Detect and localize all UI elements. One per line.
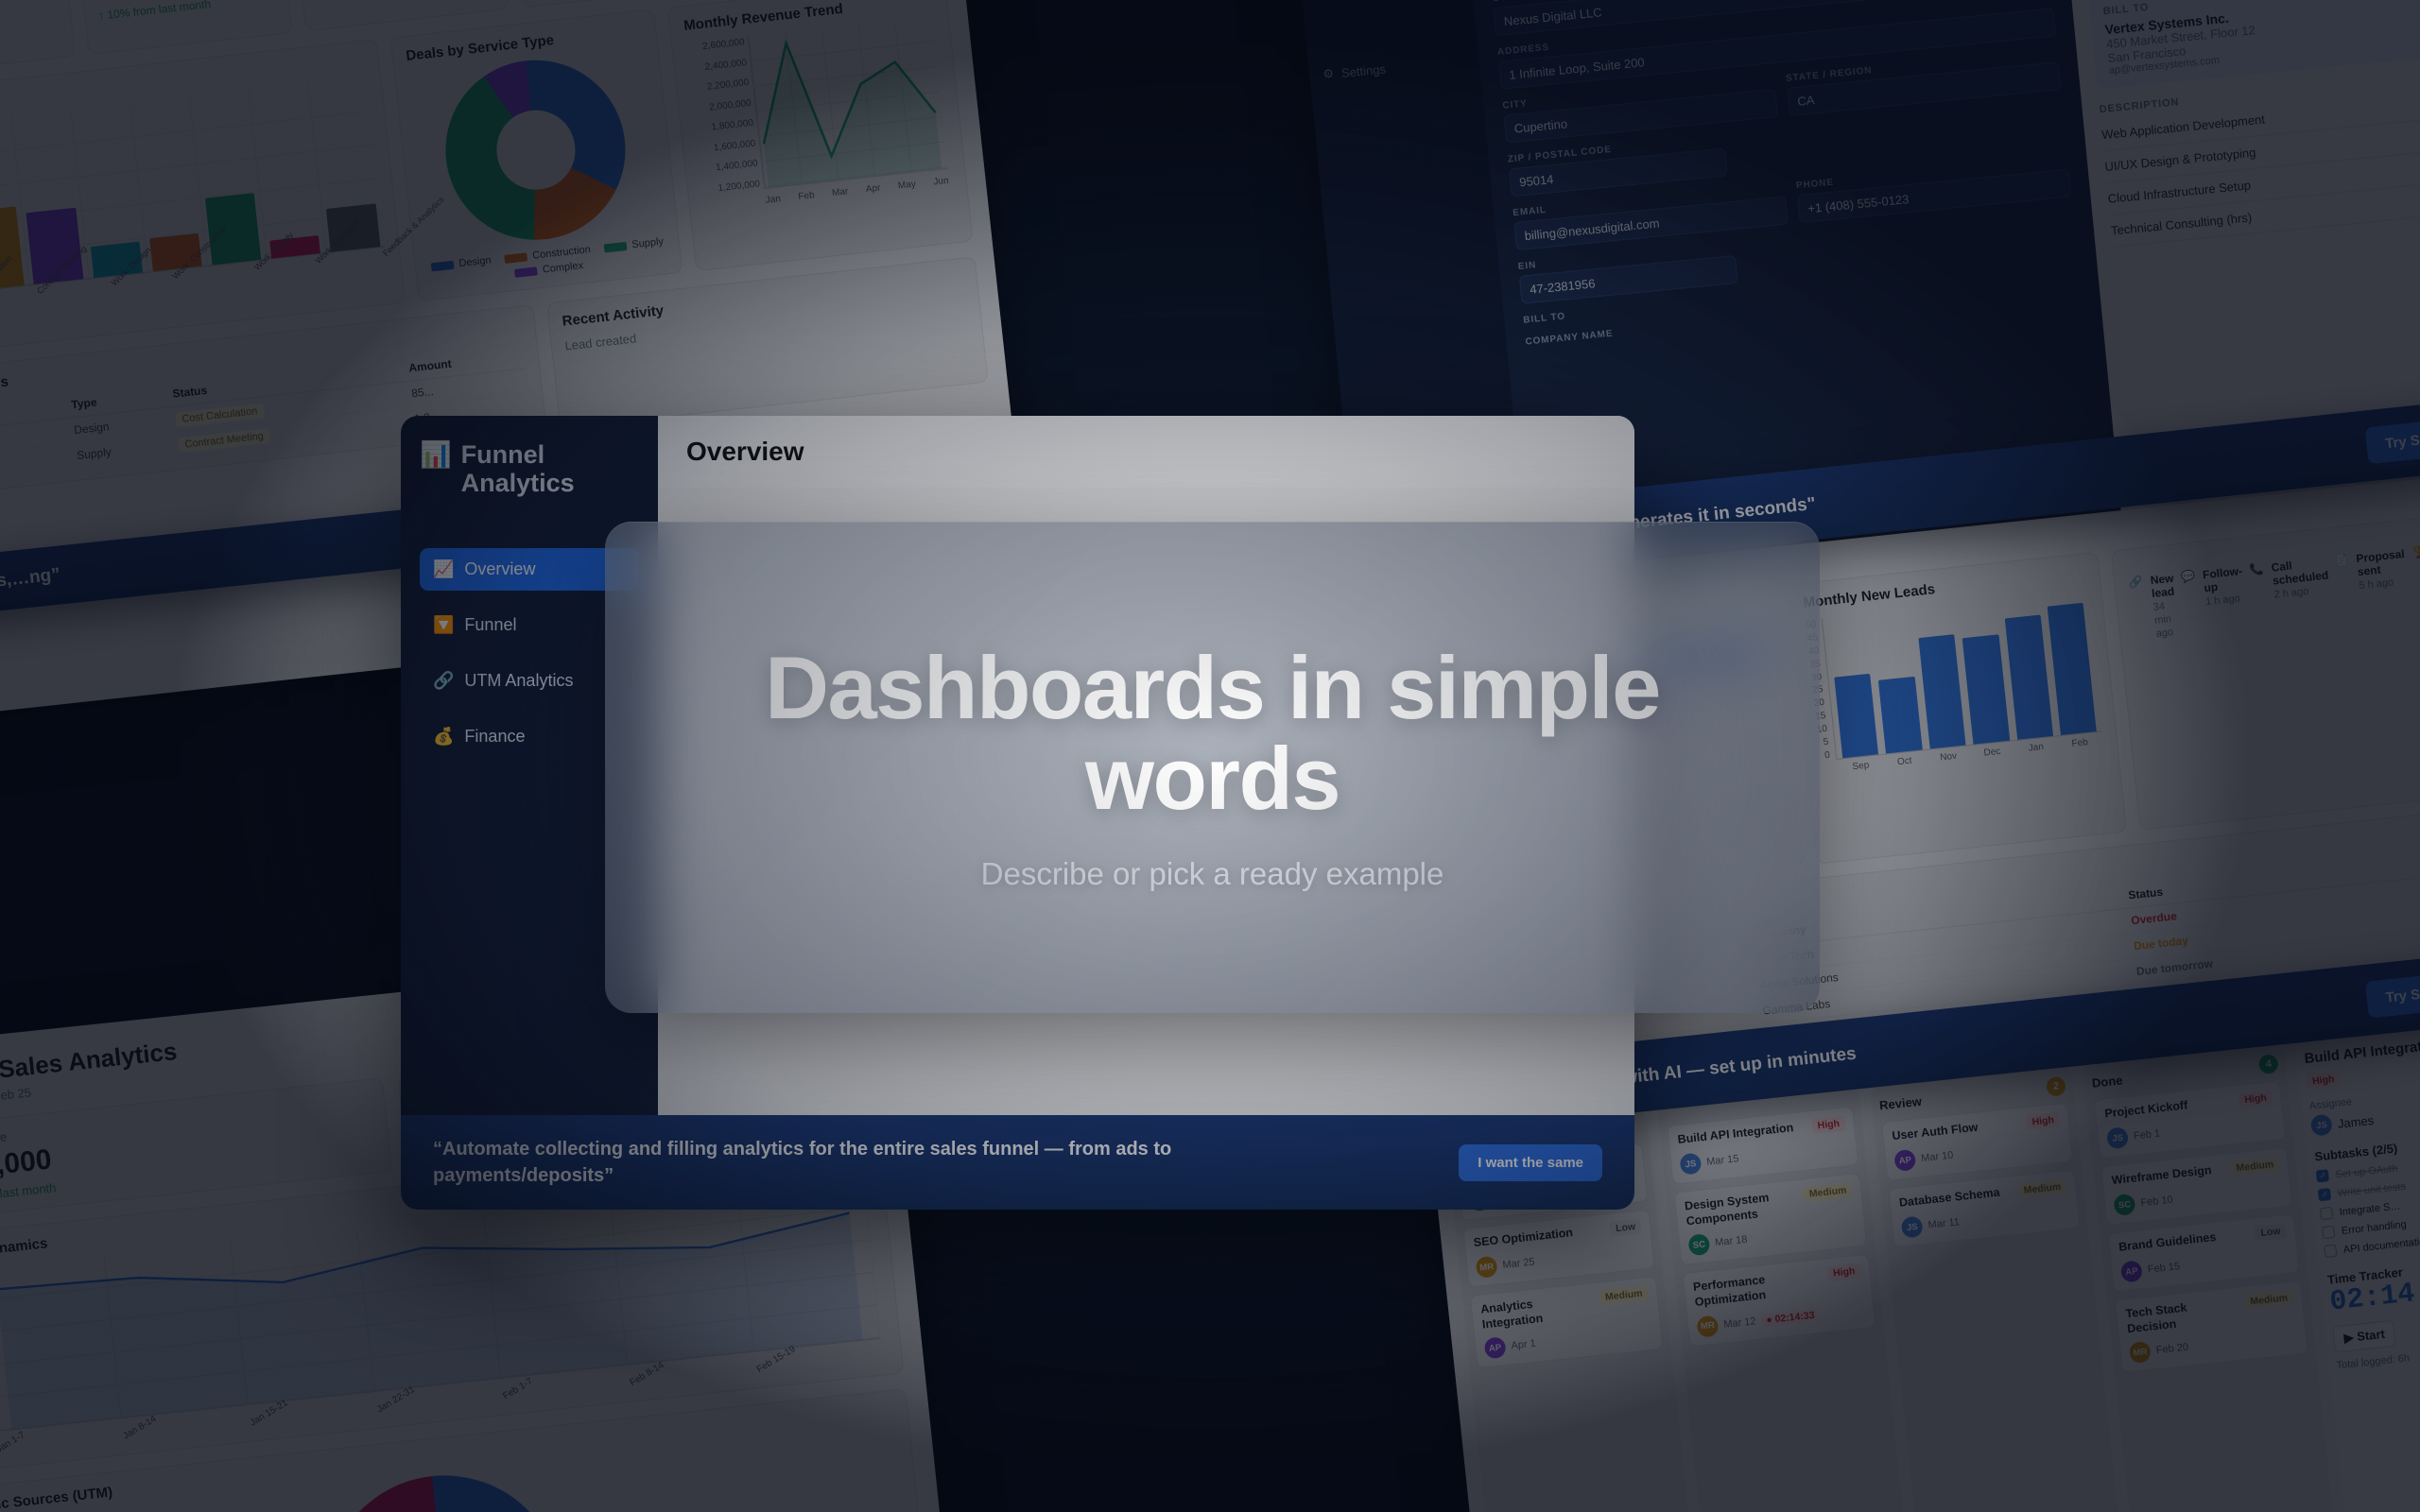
legend-item: Complex xyxy=(513,260,583,279)
bar xyxy=(1834,674,1878,759)
subtask-text: Integrate S… xyxy=(2339,1200,2401,1218)
ein-value: 47-2381956 xyxy=(1529,276,1596,297)
checkbox-icon[interactable] xyxy=(2320,1207,2333,1220)
table-cell: Ivanov M. xyxy=(0,443,75,484)
avatar: JS xyxy=(2106,1126,2129,1149)
link-icon: 🔗 xyxy=(433,671,454,691)
page-title: Overview xyxy=(658,416,1634,488)
sidebar-item-label: Finance xyxy=(464,727,525,747)
x-tick: Feb xyxy=(2061,736,2099,750)
zip-value: 95014 xyxy=(1519,172,1554,189)
card-title: Design System Components xyxy=(1684,1188,1800,1229)
card-title: Analytics Integration xyxy=(1480,1291,1597,1332)
trophy-icon: 🏆 xyxy=(2411,545,2420,559)
activity-item: 📞 Call scheduled 2 h ago xyxy=(2248,548,2331,611)
x-tick: Sep xyxy=(1842,759,1880,773)
activity-time: 5 h ago xyxy=(2359,576,2394,592)
status-badge: Overdue xyxy=(2131,909,2178,927)
chart-title: Deals by Service Type xyxy=(406,23,644,64)
card-date: Mar 25 xyxy=(1502,1256,1535,1271)
recent-activity-card: Recent Activity Lead created xyxy=(546,256,989,429)
deals-by-status-chart: Deals by Status New LeadCost Calculation… xyxy=(0,39,406,357)
card-title: Database Schema xyxy=(1898,1186,2000,1211)
kpi-card: Total Revenue 25,494,000 $ ↑ 10% from la… xyxy=(77,0,292,55)
column-count-badge: 4 xyxy=(2258,1054,2279,1074)
card-title: SEO Optimization xyxy=(1473,1226,1574,1251)
x-tick: Oct xyxy=(1886,754,1924,768)
card-title: Wireframe Design xyxy=(2111,1163,2212,1189)
sidebar-item-label: Funnel xyxy=(464,615,516,635)
avatar: MR xyxy=(1696,1314,1719,1337)
avatar: MR xyxy=(2129,1341,2152,1364)
card-date: Mar 11 xyxy=(1927,1216,1960,1230)
app-brand-label: Funnel Analytics xyxy=(461,440,639,497)
card-date: Feb 1 xyxy=(2133,1128,2160,1143)
x-tick: Jan xyxy=(2017,741,2055,755)
sidebar-item-label: Overview xyxy=(464,559,535,579)
kanban-card[interactable]: Wireframe Design Medium SC Feb 10 xyxy=(2100,1147,2293,1226)
column-count-badge: 2 xyxy=(2046,1076,2066,1097)
activity-feed: 🔗 New lead 34 min ago💬 Follow-up 1 h ago… xyxy=(2111,513,2420,831)
priority-badge: Medium xyxy=(2230,1157,2280,1177)
avatar: JS xyxy=(1901,1215,1924,1238)
start-timer-button[interactable]: ▶ Start xyxy=(2332,1320,2396,1353)
bar xyxy=(2048,603,2098,735)
kanban-card[interactable]: Performance Optimization High MR Mar 12 … xyxy=(1683,1254,1876,1348)
money-bag-icon: 💰 xyxy=(433,727,454,747)
card-date: Mar 10 xyxy=(1921,1150,1954,1165)
try-simpledashboard-button[interactable]: Try SimpleDashboard xyxy=(2365,963,2420,1019)
area-plot-area xyxy=(0,1176,880,1433)
monthly-new-leads-card: Monthly New Leads 50454035302520151050 S… xyxy=(1788,552,2128,865)
bar xyxy=(2004,615,2053,740)
line-y-labels: 2,600,0002,400,0002,200,0002,000,0001,80… xyxy=(685,37,760,196)
avatar: JS xyxy=(2310,1114,2333,1137)
activity-item: 📄 Proposal sent 5 h ago xyxy=(2333,540,2409,602)
gear-icon: ⚙ xyxy=(1322,66,1335,82)
doc-icon: 📄 xyxy=(2334,553,2349,567)
activity-text: Follow-up xyxy=(2202,564,2242,594)
y-tick: 1,600,000 xyxy=(697,138,756,155)
y-tick: 2,200,000 xyxy=(690,77,750,94)
kpi-delta: ↑ 10% from last month xyxy=(97,0,274,23)
revenue-line-svg xyxy=(749,17,947,188)
activity-item: 🔗 New lead 34 min ago xyxy=(2127,564,2180,651)
card-title: User Auth Flow xyxy=(1892,1121,1979,1144)
banner-quote: “Automate collecting and filling analyti… xyxy=(433,1136,1189,1189)
priority-badge: High xyxy=(1811,1115,1846,1134)
avatar: SC xyxy=(1687,1233,1710,1256)
x-tick: Feb xyxy=(798,190,815,202)
kanban-card[interactable]: Brand Guidelines Low AP Feb 15 xyxy=(2108,1213,2301,1292)
avatar: JS xyxy=(1679,1153,1702,1176)
activity-time: 2 h ago xyxy=(2273,586,2309,601)
priority-badge: Low xyxy=(2255,1223,2287,1241)
priority-badge: High xyxy=(2026,1112,2061,1131)
bar-chart-icon: 📊 xyxy=(420,440,452,469)
chart-legend: DesignConstructionSupplyComplex xyxy=(428,235,667,287)
assignee-name: James xyxy=(2337,1112,2375,1130)
x-tick: Dec xyxy=(1974,746,2012,760)
bar xyxy=(1918,634,1966,749)
y-tick: 2,000,000 xyxy=(692,98,752,115)
hero-overlay: Dashboards in simple words Describe or p… xyxy=(605,522,1820,1013)
card-date: Mar 12 xyxy=(1723,1315,1756,1331)
avatar: AP xyxy=(2120,1260,2143,1282)
phone-icon: 📞 xyxy=(2249,562,2264,576)
status-badge: Contract Meeting xyxy=(178,428,271,453)
x-tick: Apr xyxy=(865,183,881,196)
line-chart-plot: 2,600,0002,400,0002,200,0002,000,0001,80… xyxy=(685,16,953,213)
legend-item: Supply xyxy=(603,236,665,254)
monthly-revenue-chart: Monthly Revenue Trend 2,600,0002,400,000… xyxy=(667,0,973,271)
x-tick: May xyxy=(897,180,916,192)
priority-badge: Low xyxy=(1609,1218,1641,1236)
column-title: Done xyxy=(2091,1073,2123,1090)
priority-badge: High xyxy=(2238,1090,2273,1108)
status-badge: Due tomorrow xyxy=(2135,957,2213,978)
checkbox-icon[interactable] xyxy=(2322,1226,2335,1239)
screenshot-stage: Total Deals 312 ↑ 9% from last month Tot… xyxy=(0,0,2420,1512)
priority-badge: Medium xyxy=(1599,1285,1649,1305)
y-tick: 1,400,000 xyxy=(699,159,758,176)
activity-text: Proposal sent xyxy=(2356,547,2406,578)
legend-item: Design xyxy=(430,255,492,273)
kanban-card[interactable]: Database Schema Medium JS Mar 11 xyxy=(1888,1169,2081,1247)
card-date: Mar 15 xyxy=(1706,1153,1739,1168)
priority-badge: Medium xyxy=(1803,1182,1853,1202)
card-title: Brand Guidelines xyxy=(2118,1230,2218,1255)
card-date: Apr 1 xyxy=(1511,1338,1536,1352)
bar xyxy=(0,206,24,290)
activity-time: 34 min ago xyxy=(2152,601,2173,640)
activity-list: 🔗 New lead 34 min ago💬 Follow-up 1 h ago… xyxy=(2127,526,2420,659)
avatar: AP xyxy=(1484,1336,1507,1359)
card-title: Tech Stack Decision xyxy=(2125,1296,2241,1337)
hero-subtitle: Describe or pick a ready example xyxy=(981,856,1444,892)
card-date: Feb 15 xyxy=(2147,1261,2180,1276)
donut-chart xyxy=(437,51,634,249)
activity-text: New lead xyxy=(2150,572,2175,600)
priority-badge: Medium xyxy=(2017,1178,2067,1198)
app-brand: 📊 Funnel Analytics xyxy=(420,440,639,497)
kanban-card[interactable]: Tech Stack Decision Medium MR Feb 20 xyxy=(2115,1280,2308,1374)
email-value: billing@nexusdigital.com xyxy=(1524,215,1660,243)
chat-icon: 💬 xyxy=(2181,569,2196,583)
line-plot-area xyxy=(748,17,947,189)
checkbox-checked-icon[interactable]: ✓ xyxy=(2316,1169,2329,1182)
kanban-card[interactable]: SEO Optimization Low MR Mar 25 xyxy=(1462,1210,1655,1288)
avatar: MR xyxy=(1476,1256,1498,1279)
subtask-text: Error handling xyxy=(2341,1218,2407,1236)
activity-item: 🏆 Deal won 5 h ago xyxy=(2411,534,2420,608)
kanban-card[interactable]: User Auth Flow High AP Mar 10 xyxy=(1881,1103,2074,1181)
kpi-card: Average Check 188,844 $ xyxy=(293,0,509,31)
card-date: Feb 20 xyxy=(2155,1342,2188,1357)
sidebar-item-label: UTM Analytics xyxy=(464,671,573,691)
subtask-text: API documentation xyxy=(2342,1235,2420,1256)
card-title: Project Kickoff xyxy=(2104,1098,2188,1122)
x-tick: Jan xyxy=(765,194,781,206)
city-value: Cupertino xyxy=(1513,116,1568,135)
preview-bill-to: BILL TO Vertex Systems Inc. 450 Market S… xyxy=(2088,0,2420,89)
avatar: AP xyxy=(1893,1149,1916,1172)
window-banner: “Automate collecting and filling analyti… xyxy=(401,1115,1634,1210)
bar xyxy=(205,194,262,266)
card-date: Mar 18 xyxy=(1715,1234,1748,1249)
company-name-value: Nexus Digital LLC xyxy=(1503,5,1602,28)
state-value: CA xyxy=(1797,93,1815,109)
x-tick: Nov xyxy=(1929,750,1967,765)
bar-series xyxy=(1822,591,2103,760)
kanban-card[interactable]: Project Kickoff High JS Feb 1 xyxy=(2094,1080,2287,1159)
bar xyxy=(1962,634,2010,744)
priority-badge: Medium xyxy=(2244,1290,2294,1310)
sidebar-item-label: Settings xyxy=(1340,61,1386,79)
card-date: Feb 10 xyxy=(2140,1194,2173,1210)
column-title: Review xyxy=(1878,1093,1922,1112)
subtask-text: Write unit tests xyxy=(2337,1180,2406,1199)
sales-area-svg xyxy=(0,1176,880,1432)
funnel-icon: 🔽 xyxy=(433,615,454,635)
hero-title: Dashboards in simple words xyxy=(712,643,1714,824)
activity-item: 💬 Follow-up 1 h ago xyxy=(2180,557,2247,618)
y-tick: 1,200,000 xyxy=(701,179,761,196)
priority-badge: High xyxy=(1826,1263,1861,1282)
activity-text: Call scheduled xyxy=(2271,558,2329,587)
card-title: Performance Optimization xyxy=(1692,1267,1824,1310)
subtask-text: Set up OAuth xyxy=(2335,1162,2398,1180)
x-tick: Mar xyxy=(832,186,849,198)
checkbox-icon[interactable] xyxy=(2324,1245,2337,1258)
kpi-delta: ↑ 9% from last month xyxy=(0,14,58,46)
y-tick: 2,600,000 xyxy=(685,37,745,54)
y-tick: 1,800,000 xyxy=(695,118,754,135)
card-timer: ● 02:14:33 xyxy=(1761,1308,1820,1327)
detail-priority: High xyxy=(2306,1071,2341,1090)
x-tick: Jun xyxy=(933,176,949,188)
bar xyxy=(1878,677,1922,754)
kanban-card[interactable]: Analytics Integration Medium AP Apr 1 xyxy=(1470,1276,1664,1369)
chart-increasing-icon: 📈 xyxy=(433,559,454,579)
link-icon: 🔗 xyxy=(2128,575,2143,589)
avatar: SC xyxy=(2114,1194,2136,1216)
sidebar-item-settings[interactable]: ⚙ Settings xyxy=(1322,53,1467,81)
kpi-card: Total Deals 312 ↑ 9% from last month xyxy=(0,0,76,78)
deals-by-service-chart: Deals by Service Type DesignConstruction… xyxy=(389,9,683,301)
y-tick: 0 xyxy=(1819,750,1830,762)
try-simpledashboard-button[interactable]: Try SimpleDashboard xyxy=(2364,408,2420,464)
i-want-the-same-button[interactable]: I want the same xyxy=(1459,1144,1602,1181)
kanban-card[interactable]: Build API Integration High JS Mar 15 xyxy=(1667,1106,1859,1184)
phone-value: +1 (408) 555-0123 xyxy=(1807,192,1910,215)
activity-time: 1 h ago xyxy=(2205,593,2241,608)
status-badge: Due today xyxy=(2133,934,2188,953)
kanban-card[interactable]: Design System Components Medium SC Mar 1… xyxy=(1673,1173,1867,1266)
checkbox-checked-icon[interactable]: ✓ xyxy=(2318,1188,2331,1201)
y-tick: 2,400,000 xyxy=(688,58,748,75)
